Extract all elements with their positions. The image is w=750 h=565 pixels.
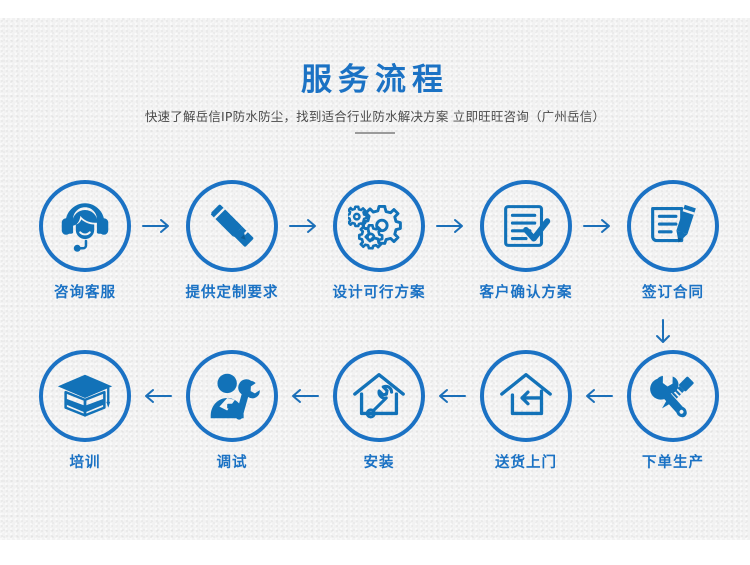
contract-sign-icon: [642, 195, 704, 257]
header-block: 服务流程 快速了解岳信IP防水防尘，找到适合行业防水解决方案 立即旺旺咨询（广州…: [0, 60, 750, 134]
step-label: 咨询客服: [31, 281, 139, 302]
step-label: 签订合同: [619, 281, 727, 302]
arrow-right-icon-3: [434, 216, 468, 236]
step-circle: [333, 180, 425, 272]
step-circle: [39, 350, 131, 442]
step-circle: [627, 350, 719, 442]
flow-step-sign-contract[interactable]: 签订合同: [619, 180, 727, 302]
step-label: 培训: [31, 451, 139, 472]
step-label: 下单生产: [619, 451, 727, 472]
flow-step-consult-service[interactable]: 咨询客服: [31, 180, 139, 302]
arrow-right-icon-2: [287, 216, 321, 236]
step-label: 客户确认方案: [472, 281, 580, 302]
arrow-right-icon-4: [581, 216, 615, 236]
arrow-left-icon-3: [434, 386, 468, 406]
page-root: 服务流程 快速了解岳信IP防水防尘，找到适合行业防水解决方案 立即旺旺咨询（广州…: [0, 0, 750, 565]
step-circle: [480, 350, 572, 442]
flow-step-order-production[interactable]: 下单生产: [619, 350, 727, 472]
step-label: 送货上门: [472, 451, 580, 472]
gears-icon: [348, 195, 410, 257]
page-title: 服务流程: [0, 60, 750, 100]
step-circle: [480, 180, 572, 272]
pen-ruler-icon: [201, 195, 263, 257]
flow-step-feasible-design[interactable]: 设计可行方案: [325, 180, 433, 302]
flow-step-home-delivery[interactable]: 送货上门: [472, 350, 580, 472]
step-circle: [186, 350, 278, 442]
step-label: 设计可行方案: [325, 281, 433, 302]
content-layer: 服务流程 快速了解岳信IP防水防尘，找到适合行业防水解决方案 立即旺旺咨询（广州…: [0, 0, 750, 565]
document-check-icon: [495, 195, 557, 257]
step-label: 调试: [178, 451, 286, 472]
house-wrench-icon: [348, 365, 410, 427]
step-label: 提供定制要求: [178, 281, 286, 302]
step-circle: [186, 180, 278, 272]
step-circle: [627, 180, 719, 272]
flow-row-2: 培训: [0, 350, 750, 480]
technician-wrench-icon: [201, 365, 263, 427]
tools-production-icon: [642, 365, 704, 427]
flow-row-1: 咨询客服: [0, 180, 750, 310]
step-circle: [333, 350, 425, 442]
step-circle: [39, 180, 131, 272]
flow-step-training[interactable]: 培训: [31, 350, 139, 472]
arrow-right-icon-1: [140, 216, 174, 236]
step-label: 安装: [325, 451, 433, 472]
house-delivery-icon: [495, 365, 557, 427]
headset-agent-icon: [54, 195, 116, 257]
flow-step-installation[interactable]: 安装: [325, 350, 433, 472]
arrow-left-icon-4: [581, 386, 615, 406]
arrow-down-icon: [648, 318, 678, 348]
page-subtitle: 快速了解岳信IP防水防尘，找到适合行业防水解决方案 立即旺旺咨询（广州岳信）: [0, 108, 750, 126]
flow-step-customer-confirm[interactable]: 客户确认方案: [472, 180, 580, 302]
flow-step-debugging[interactable]: 调试: [178, 350, 286, 472]
graduation-book-icon: [54, 365, 116, 427]
flow-step-custom-requirements[interactable]: 提供定制要求: [178, 180, 286, 302]
header-divider: [355, 132, 395, 134]
arrow-left-icon-1: [140, 386, 174, 406]
arrow-left-icon-2: [287, 386, 321, 406]
